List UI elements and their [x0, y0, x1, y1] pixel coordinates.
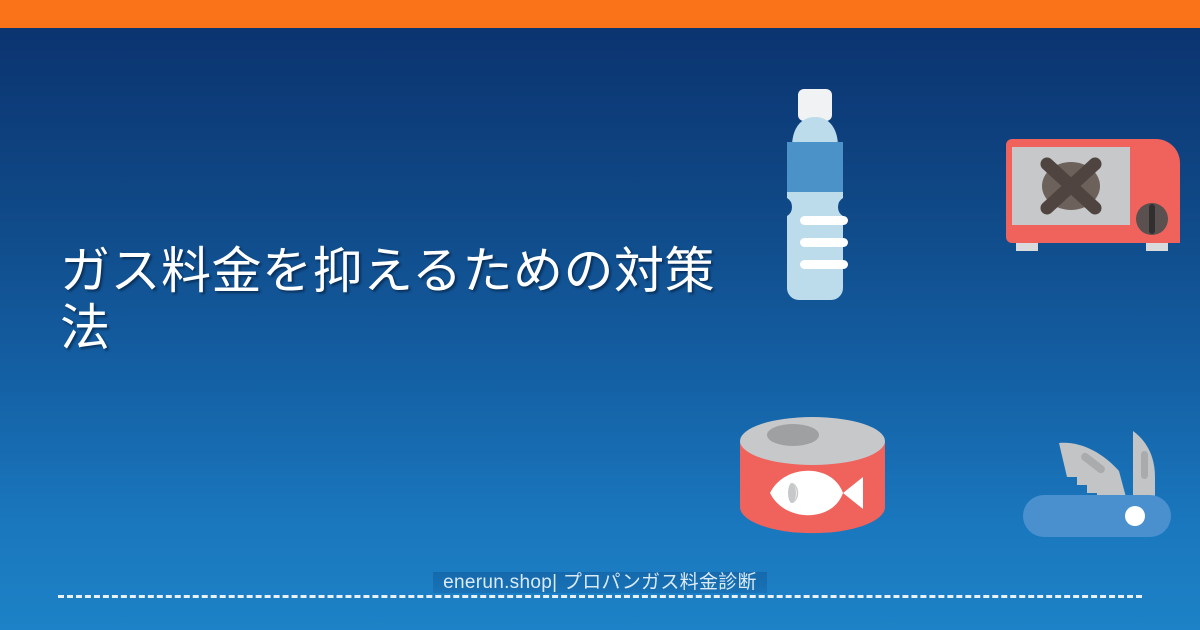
- footer-branding: enerun.shop| プロパンガス料金診断: [0, 571, 1200, 595]
- top-accent-bar: [0, 0, 1200, 28]
- canned-fish-icon: [730, 415, 895, 535]
- page-title: ガス料金を抑えるための対策法: [60, 243, 750, 357]
- footer-branding-text: enerun.shop| プロパンガス料金診断: [433, 572, 767, 593]
- water-bottle-icon: [760, 85, 870, 300]
- footer: enerun.shop| プロパンガス料金診断: [0, 568, 1200, 608]
- safe-box-icon: [1000, 125, 1190, 255]
- swiss-army-knife-icon: [1015, 415, 1180, 540]
- og-image-card: ガス料金を抑えるための対策法 enerun.shop| プロパンガス料金診断: [0, 0, 1200, 630]
- footer-divider: [58, 595, 1142, 598]
